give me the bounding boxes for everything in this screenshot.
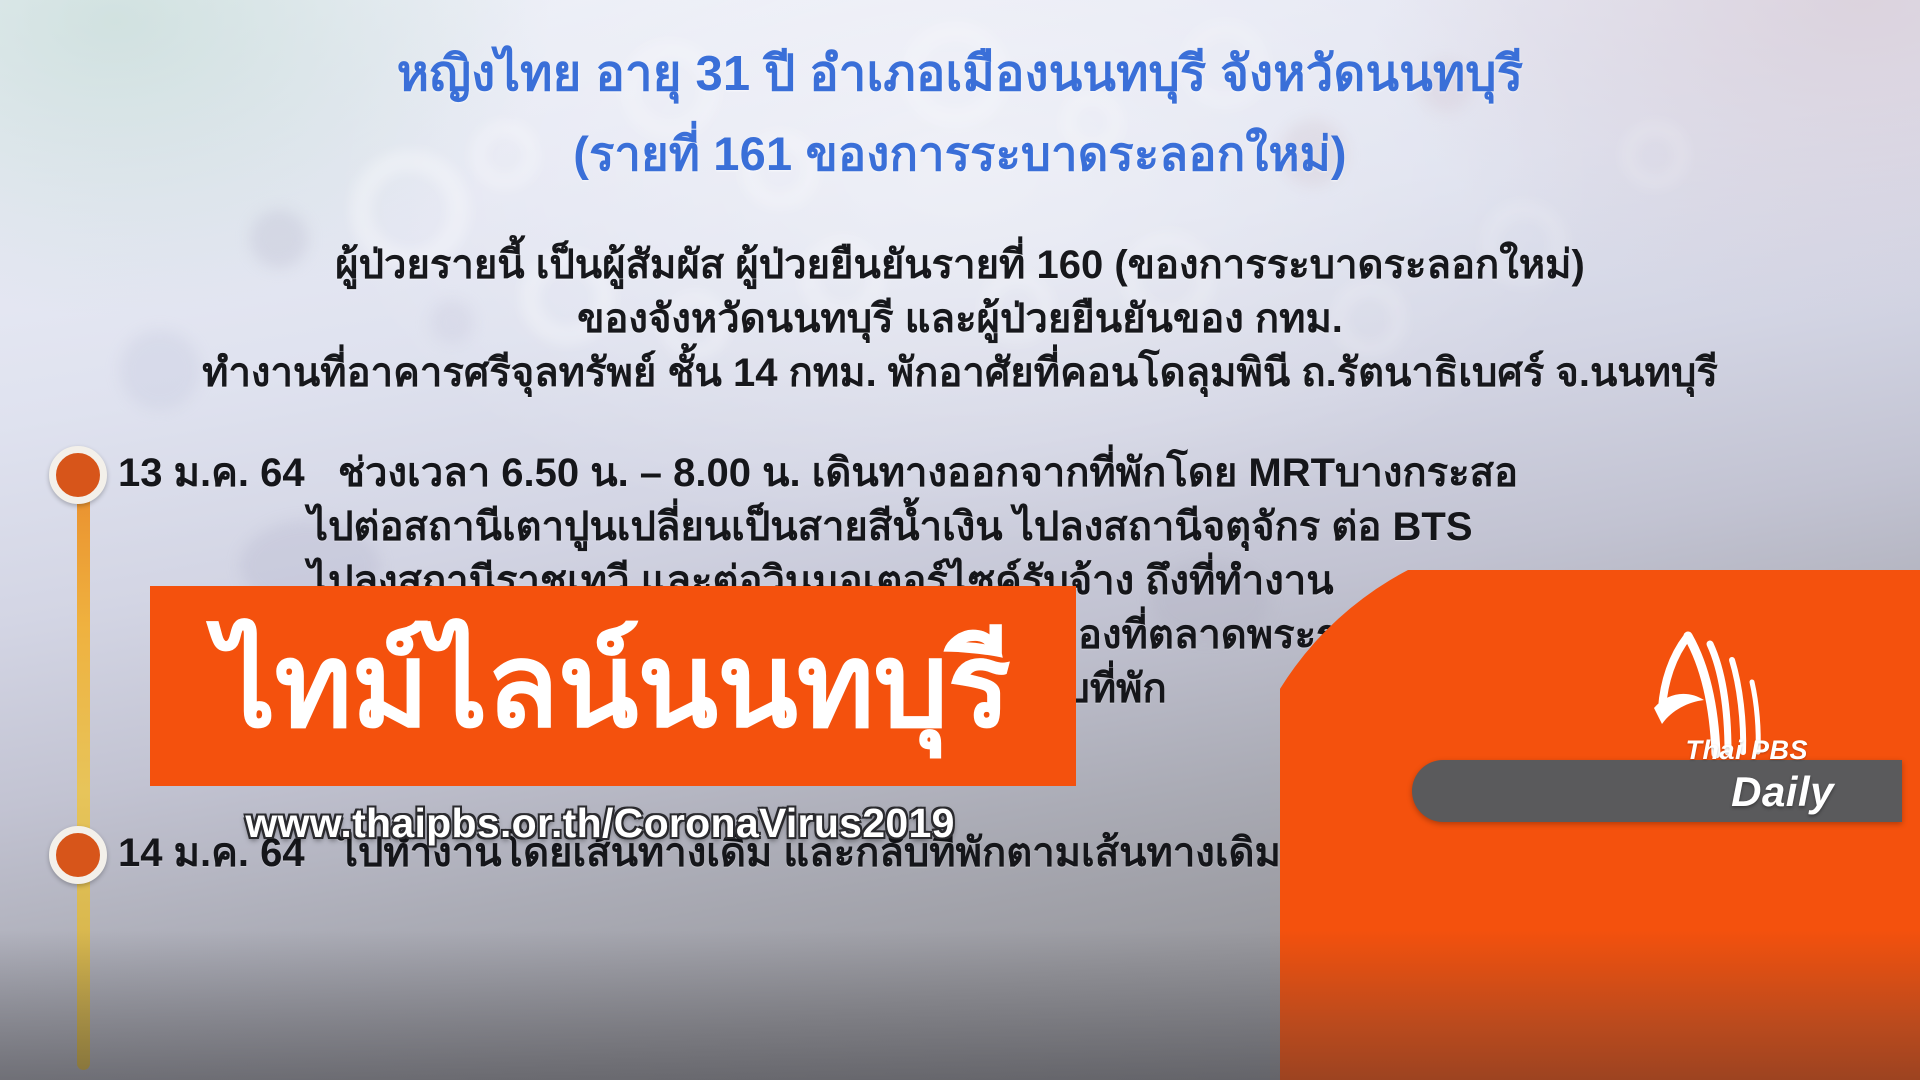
timeline-track: [77, 450, 90, 1070]
timeline-banner-overlay: ไทม์ไลน์นนทบุรี: [150, 586, 1076, 786]
case-description-line-3: ทำงานที่อาคารศรีจุลทรัพย์ ชั้น 14 กทม. พ…: [0, 346, 1920, 400]
timeline-dot-1: [49, 446, 107, 504]
daily-badge-label: Daily: [1731, 768, 1834, 816]
case-description-line-1: ผู้ป่วยรายนี้ เป็นผู้สัมผัส ผู้ป่วยยืนยั…: [0, 238, 1920, 292]
timeline-entry-1-line-2: ไปต่อสถานีเตาปูนเปลี่ยนเป็นสายสีน้ำเงิน …: [118, 500, 1588, 554]
timeline-entry-1-line-1: ช่วงเวลา 6.50 น. – 8.00 น. เดินทางออกจาก…: [338, 451, 1518, 495]
timeline-entry-1-date: 13 ม.ค. 64: [118, 451, 305, 495]
title-line-2: (รายที่ 161 ของการระบาดระลอกใหม่): [0, 114, 1920, 194]
title-line-1: หญิงไทย อายุ 31 ปี อำเภอเมืองนนทบุรี จัง…: [0, 34, 1920, 114]
case-description-line-2: ของจังหวัดนนทบุรี และผู้ป่วยยืนยันของ กท…: [0, 292, 1920, 346]
infographic-stage: หญิงไทย อายุ 31 ปี อำเภอเมืองนนทบุรี จัง…: [0, 0, 1920, 1080]
timeline-banner-text: ไทม์ไลน์นนทบุรี: [216, 627, 1010, 745]
thaipbs-wordmark: Thai PBS: [1685, 735, 1808, 766]
case-description: ผู้ป่วยรายนี้ เป็นผู้สัมผัส ผู้ป่วยยืนยั…: [0, 238, 1920, 400]
page-title: หญิงไทย อายุ 31 ปี อำเภอเมืองนนทบุรี จัง…: [0, 34, 1920, 194]
footer-url: www.thaipbs.or.th/CoronaVirus2019: [0, 800, 1200, 847]
